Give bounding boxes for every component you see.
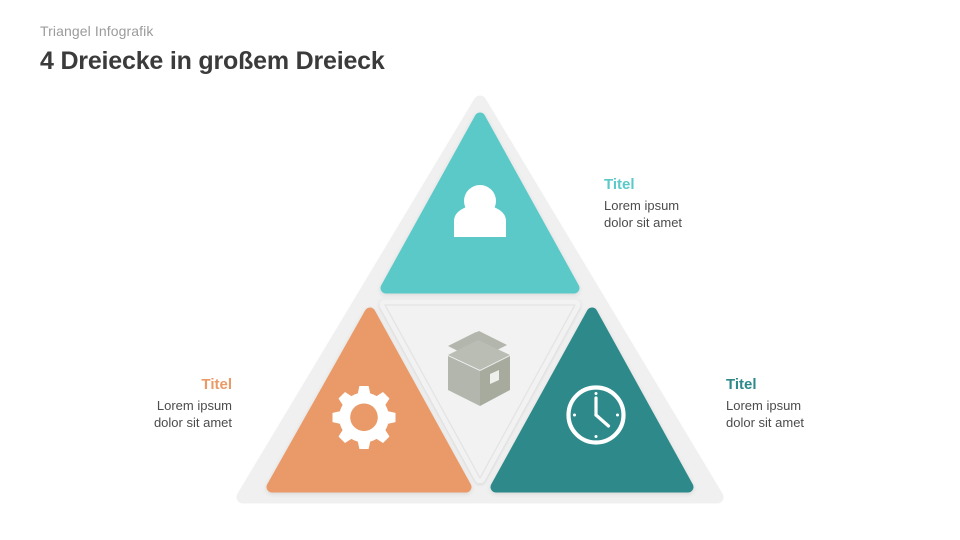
callout-left-title: Titel	[42, 376, 232, 394]
callout-right-body: Lorem ipsum dolor sit amet	[726, 397, 916, 431]
callout-right-title: Titel	[726, 376, 916, 394]
callout-top-right-body: Lorem ipsum dolor sit amet	[604, 197, 794, 231]
triangle-diagram-svg	[0, 0, 960, 540]
callout-top-right-title: Titel	[604, 176, 794, 194]
callout-left: Titel Lorem ipsum dolor sit amet	[42, 376, 232, 431]
callout-right: Titel Lorem ipsum dolor sit amet	[726, 376, 916, 431]
triangle-infographic: Titel Lorem ipsum dolor sit amet Titel L…	[0, 0, 960, 540]
callout-top-right: Titel Lorem ipsum dolor sit amet	[604, 176, 794, 231]
callout-left-body: Lorem ipsum dolor sit amet	[42, 397, 232, 431]
